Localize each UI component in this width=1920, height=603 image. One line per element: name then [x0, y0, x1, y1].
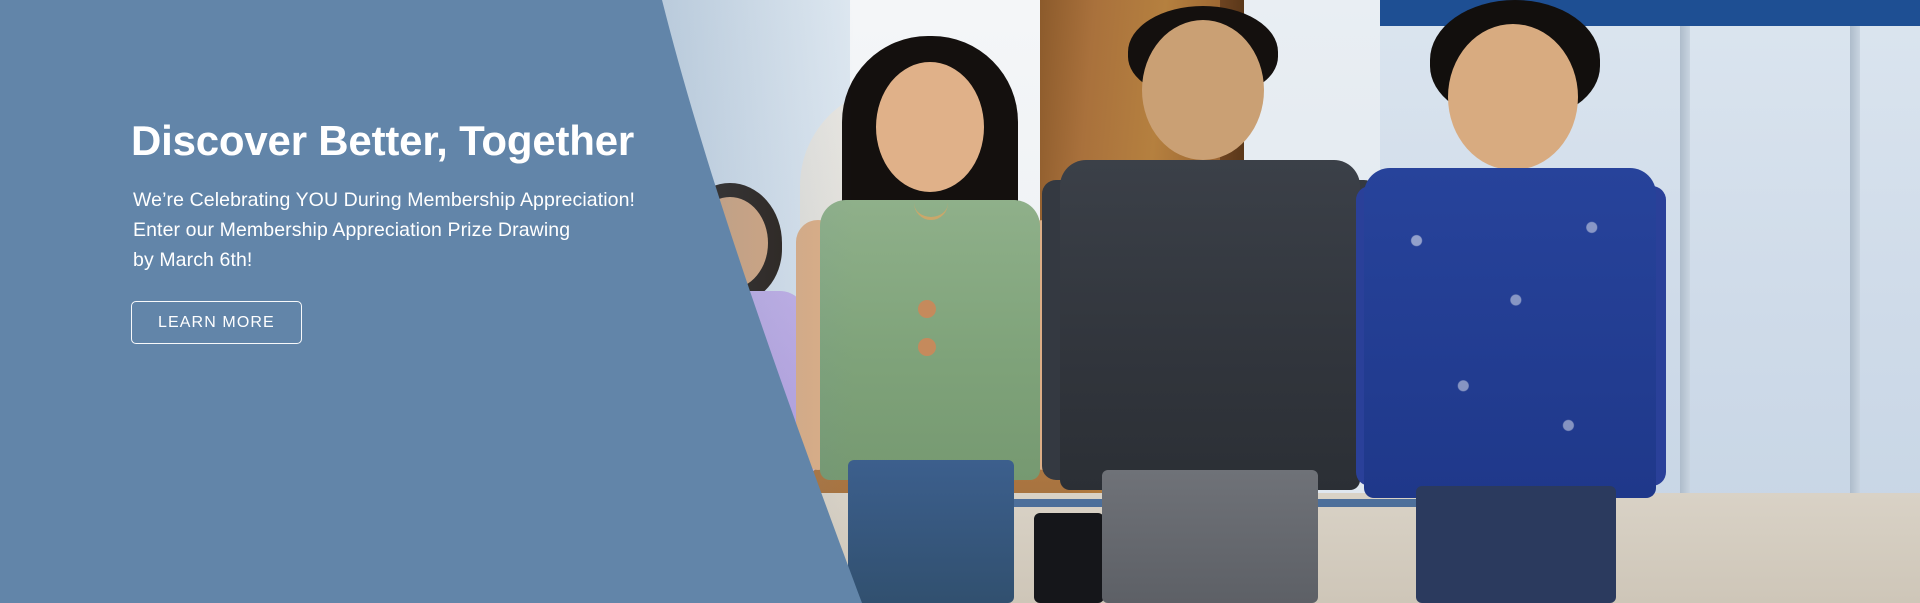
learn-more-button[interactable]: LEARN MORE	[131, 301, 302, 344]
subcopy-line-2: Enter our Membership Appreciation Prize …	[133, 215, 691, 245]
subcopy-line-1: We’re Celebrating YOU During Membership …	[133, 185, 691, 215]
person-man	[1050, 0, 1370, 603]
banner-content: Discover Better, Together We’re Celebrat…	[131, 118, 691, 344]
banner-subcopy: We’re Celebrating YOU During Membership …	[133, 185, 691, 275]
person-teen	[1360, 0, 1660, 603]
person-woman	[790, 0, 1070, 603]
hero-banner: Discover Better, Together We’re Celebrat…	[0, 0, 1920, 603]
hero-photo	[620, 0, 1920, 603]
subcopy-line-3: by March 6th!	[133, 245, 691, 275]
page-title: Discover Better, Together	[131, 118, 691, 163]
